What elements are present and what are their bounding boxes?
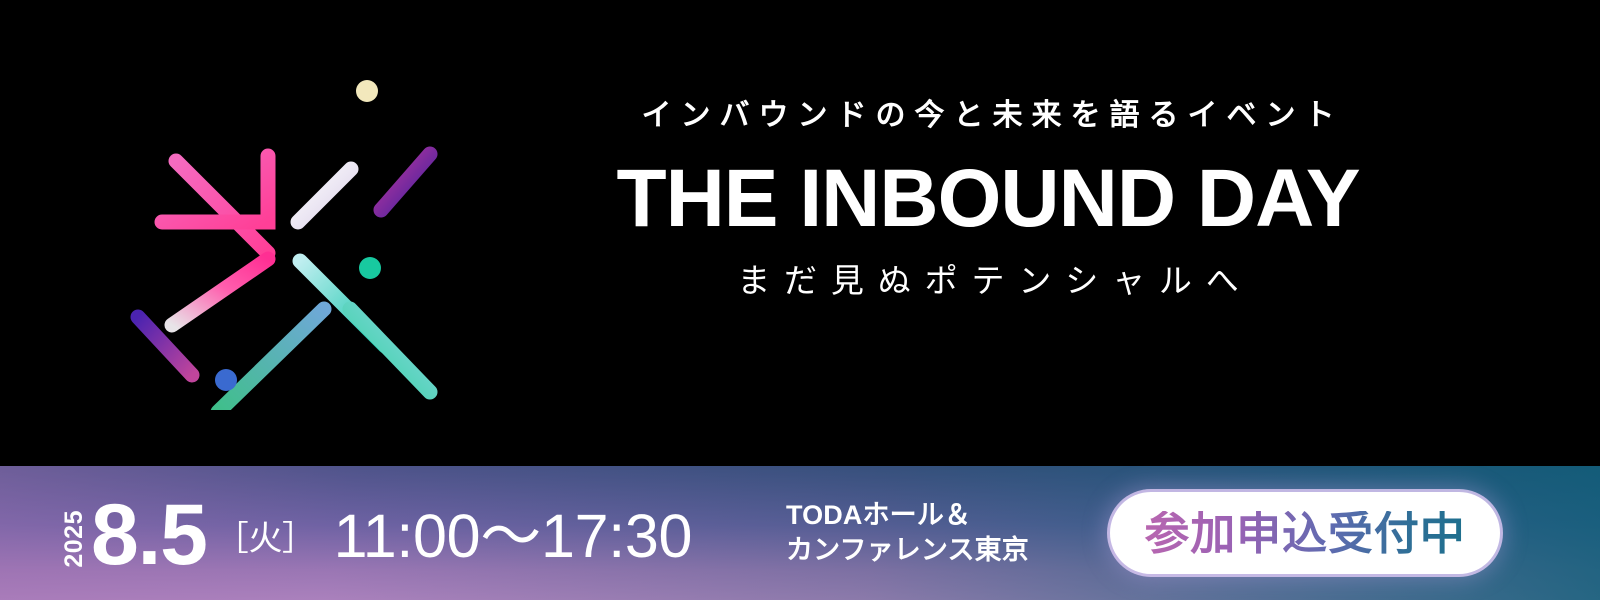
event-year: 2025 [62,510,87,568]
venue-line-1: TODAホール＆ [786,498,1029,533]
event-weekday: ［火］ [215,522,316,556]
event-time-range: 11:00〜17:30 [334,506,692,567]
inbound-day-logo-icon [100,62,480,410]
date-time-group: 2025 8.5 ［火］ 11:00〜17:30 [62,466,692,600]
page-title: THE INBOUND DAY [488,155,1488,244]
title-block: インバウンドの今と未来を語るイベント THE INBOUND DAY まだ見ぬポ… [488,96,1488,304]
event-banner: インバウンドの今と未来を語るイベント THE INBOUND DAY まだ見ぬポ… [0,0,1600,600]
event-date: 8.5 [91,492,207,578]
registration-cta-button[interactable]: 参加申込受付中 [1110,492,1500,574]
hero-section: インバウンドの今と未来を語るイベント THE INBOUND DAY まだ見ぬポ… [0,0,1600,466]
event-venue: TODAホール＆ カンファレンス東京 [786,466,1029,600]
event-subtitle: まだ見ぬポテンシャルへ [488,259,1488,304]
registration-cta-label: 参加申込受付中 [1144,511,1465,556]
event-tagline: インバウンドの今と未来を語るイベント [488,96,1488,137]
venue-line-2: カンファレンス東京 [786,533,1029,568]
